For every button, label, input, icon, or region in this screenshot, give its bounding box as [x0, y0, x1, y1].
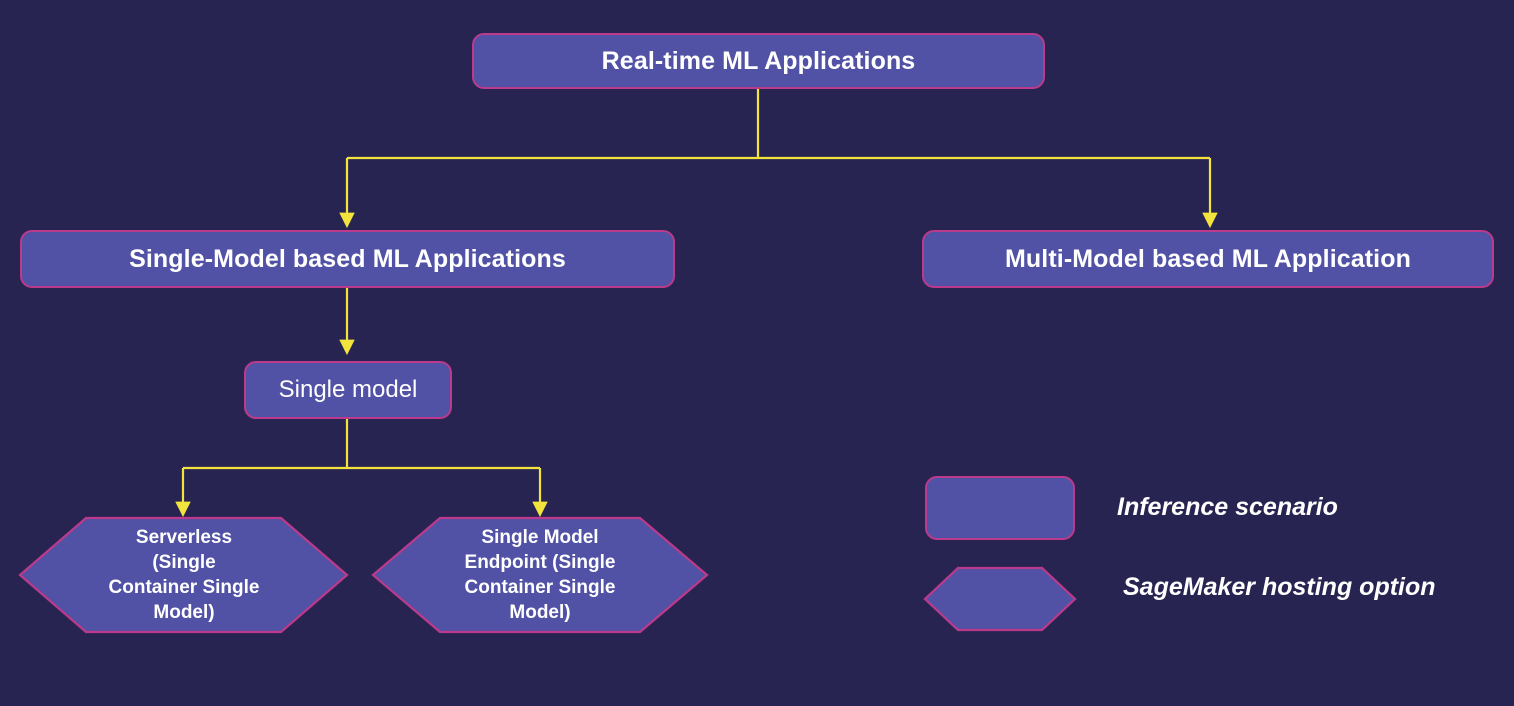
- node-multi-model-based-ml-application[interactable]: Multi-Model based ML Application: [922, 230, 1494, 288]
- node-single-model[interactable]: Single model: [244, 361, 452, 419]
- legend-rect-swatch: [925, 476, 1075, 540]
- node-real-time-ml-applications[interactable]: Real-time ML Applications: [472, 33, 1045, 89]
- node-single-model-based-ml-applications[interactable]: Single-Model based ML Applications: [20, 230, 675, 288]
- node-single-model-endpoint-shape[interactable]: [373, 518, 707, 632]
- legend-label-sagemaker-hosting-option: SageMaker hosting option: [1123, 575, 1436, 600]
- legend-hexagon-swatch: [925, 568, 1075, 630]
- node-serverless-shape[interactable]: [20, 518, 347, 632]
- diagram-canvas: Real-time ML Applications Single-Model b…: [0, 0, 1514, 706]
- legend-label-inference-scenario: Inference scenario: [1117, 495, 1338, 520]
